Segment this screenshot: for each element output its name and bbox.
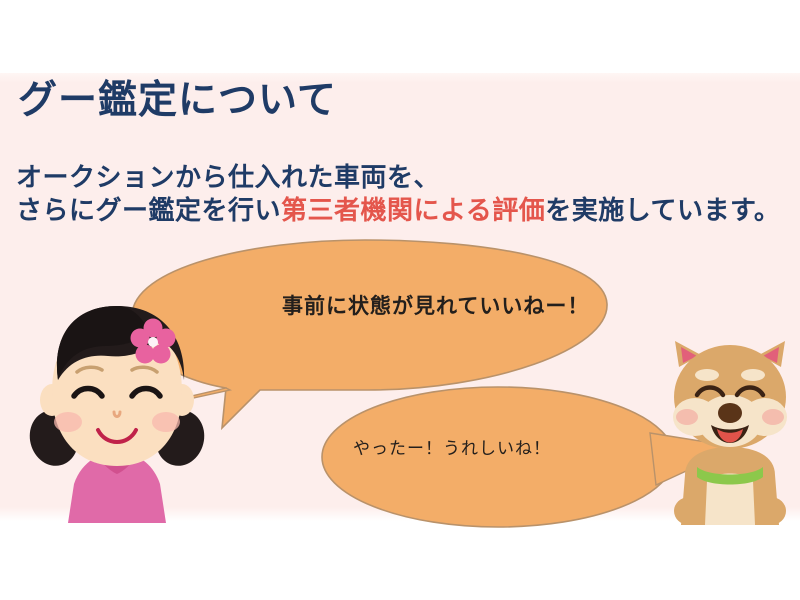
shiba-dog-illustration: [655, 325, 800, 525]
girl-bubble-text: 事前に状態が見れていいねー！: [282, 290, 589, 320]
body-text-line-2: さらにグー鑑定を行い第三者機関による評価を実施しています。: [16, 196, 780, 226]
girl-illustration: [22, 288, 212, 523]
page-title: グー鑑定について: [18, 80, 337, 123]
slide-canvas: グー鑑定について オークションから仕入れた車両を、 さらにグー鑑定を行い第三者機…: [0, 0, 800, 600]
dog-bubble-text: やったー！うれしいね！: [353, 434, 551, 459]
body-text-line-1: オークションから仕入れた車両を、: [16, 163, 440, 193]
body-line2-suffix: を実施しています。: [545, 195, 780, 225]
body-line2-prefix: さらにグー鑑定を行い: [16, 195, 281, 225]
body-line2-highlight: 第三者機関による評価: [281, 195, 545, 225]
